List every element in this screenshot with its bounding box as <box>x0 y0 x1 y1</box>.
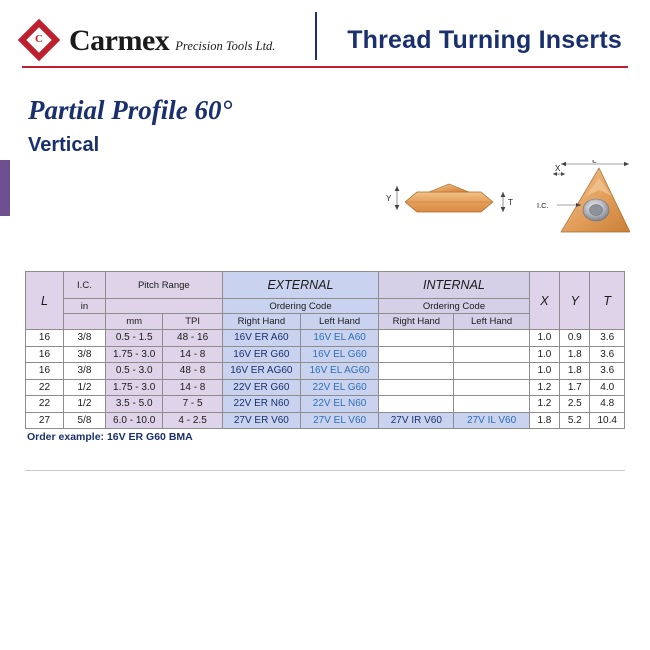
cell-ext-left: 16V EL G60 <box>300 346 378 363</box>
section-subtitle: Vertical <box>28 134 99 157</box>
cell-int-left <box>454 363 529 380</box>
diagram-label-x: X <box>555 164 561 173</box>
cell-y: 1.8 <box>560 363 590 380</box>
page-title: Thread Turning Inserts <box>347 26 622 55</box>
cell-y: 1.8 <box>560 346 590 363</box>
cell-mm: 1.75 - 3.0 <box>105 379 163 396</box>
order-example: Order example: 16V ER G60 BMA <box>27 431 193 443</box>
cell-x: 1.0 <box>529 363 559 380</box>
cell-int-right <box>379 379 454 396</box>
cell-tpi: 4 - 2.5 <box>163 412 222 429</box>
cell-mm: 3.5 - 5.0 <box>105 396 163 413</box>
cell-int-right <box>379 396 454 413</box>
cell-t: 3.6 <box>590 363 625 380</box>
cell-tpi: 48 - 16 <box>163 330 222 347</box>
table-row: 22 1/2 1.75 - 3.0 14 - 8 22V ER G60 22V … <box>26 379 625 396</box>
diagram-label-y: Y <box>386 194 392 203</box>
cell-l: 16 <box>26 346 64 363</box>
side-view: Y T <box>386 184 513 212</box>
table-row: 27 5/8 6.0 - 10.0 4 - 2.5 27V ER V60 27V… <box>26 412 625 429</box>
cell-int-left <box>454 330 529 347</box>
cell-mm: 6.0 - 10.0 <box>105 412 163 429</box>
cell-y: 2.5 <box>560 396 590 413</box>
page-root: C Carmex Precision Tools Ltd. Thread Tur… <box>0 0 650 650</box>
cell-ic: 5/8 <box>63 412 105 429</box>
col-header-y: Y <box>560 272 590 330</box>
table-row: 16 3/8 0.5 - 1.5 48 - 16 16V ER A60 16V … <box>26 330 625 347</box>
cell-ext-left: 16V EL AG60 <box>300 363 378 380</box>
cell-int-right <box>379 363 454 380</box>
page-header: C Carmex Precision Tools Ltd. Thread Tur… <box>0 0 650 70</box>
col-header-int-left-hand: Left Hand <box>454 314 529 330</box>
diagram-label-t: T <box>508 198 513 207</box>
cell-int-left <box>454 379 529 396</box>
pitch-spacer <box>105 299 222 314</box>
cell-int-left <box>454 346 529 363</box>
cell-x: 1.8 <box>529 412 559 429</box>
bottom-rule <box>25 470 625 471</box>
cell-tpi: 7 - 5 <box>163 396 222 413</box>
cell-t: 4.0 <box>590 379 625 396</box>
col-header-mm: mm <box>105 314 163 330</box>
cell-l: 16 <box>26 363 64 380</box>
cell-tpi: 48 - 8 <box>163 363 222 380</box>
cell-t: 3.6 <box>590 330 625 347</box>
col-header-int-right-hand: Right Hand <box>379 314 454 330</box>
cell-l: 22 <box>26 396 64 413</box>
logo-letter: C <box>32 33 46 45</box>
cell-ext-left: 22V EL N60 <box>300 396 378 413</box>
section-title: Partial Profile 60° <box>28 95 232 126</box>
logo-tagline: Precision Tools Ltd. <box>175 39 275 56</box>
cell-t: 4.8 <box>590 396 625 413</box>
ic-spacer <box>63 314 105 330</box>
cell-mm: 1.75 - 3.0 <box>105 346 163 363</box>
cell-ext-left: 22V EL G60 <box>300 379 378 396</box>
cell-ext-left: 16V EL A60 <box>300 330 378 347</box>
cell-ext-right: 22V ER G60 <box>222 379 300 396</box>
cell-l: 27 <box>26 412 64 429</box>
table-header-row-1: L I.C. Pitch Range EXTERNAL INTERNAL X Y… <box>26 272 625 299</box>
side-color-tab <box>0 160 10 216</box>
table-row: 16 3/8 1.75 - 3.0 14 - 8 16V ER G60 16V … <box>26 346 625 363</box>
col-header-ic: I.C. <box>63 272 105 299</box>
cell-tpi: 14 - 8 <box>163 379 222 396</box>
cell-ext-right: 22V ER N60 <box>222 396 300 413</box>
col-header-int-ordering-code: Ordering Code <box>379 299 530 314</box>
cell-y: 0.9 <box>560 330 590 347</box>
cell-ext-right: 16V ER G60 <box>222 346 300 363</box>
cell-tpi: 14 - 8 <box>163 346 222 363</box>
carmex-logo-icon: C <box>22 22 62 56</box>
company-logo: C Carmex Precision Tools Ltd. <box>22 22 275 56</box>
spec-table: L I.C. Pitch Range EXTERNAL INTERNAL X Y… <box>25 271 625 429</box>
header-red-rule <box>22 66 628 68</box>
cell-mm: 0.5 - 3.0 <box>105 363 163 380</box>
cell-int-right: 27V IR V60 <box>379 412 454 429</box>
cell-x: 1.0 <box>529 346 559 363</box>
header-divider <box>315 12 317 60</box>
col-header-l: L <box>26 272 64 330</box>
cell-ic: 3/8 <box>63 346 105 363</box>
cell-x: 1.2 <box>529 396 559 413</box>
cell-y: 5.2 <box>560 412 590 429</box>
cell-y: 1.7 <box>560 379 590 396</box>
front-view: L X I.C. <box>537 160 630 232</box>
cell-ext-right: 16V ER A60 <box>222 330 300 347</box>
col-header-pitch-range: Pitch Range <box>105 272 222 299</box>
logo-wordmark: Carmex <box>69 26 169 56</box>
col-header-ic-unit: in <box>63 299 105 314</box>
cell-ic: 3/8 <box>63 363 105 380</box>
cell-l: 22 <box>26 379 64 396</box>
col-header-ext-right-hand: Right Hand <box>222 314 300 330</box>
cell-int-right <box>379 346 454 363</box>
col-header-t: T <box>590 272 625 330</box>
col-header-external: EXTERNAL <box>222 272 378 299</box>
cell-l: 16 <box>26 330 64 347</box>
cell-x: 1.0 <box>529 330 559 347</box>
cell-ext-left: 27V EL V60 <box>300 412 378 429</box>
table-row: 22 1/2 3.5 - 5.0 7 - 5 22V ER N60 22V EL… <box>26 396 625 413</box>
cell-ext-right: 27V ER V60 <box>222 412 300 429</box>
cell-t: 3.6 <box>590 346 625 363</box>
cell-int-left <box>454 396 529 413</box>
cell-t: 10.4 <box>590 412 625 429</box>
col-header-x: X <box>529 272 559 330</box>
cell-ext-right: 16V ER AG60 <box>222 363 300 380</box>
cell-x: 1.2 <box>529 379 559 396</box>
cell-int-right <box>379 330 454 347</box>
spec-table-wrapper: L I.C. Pitch Range EXTERNAL INTERNAL X Y… <box>25 271 625 429</box>
table-row: 16 3/8 0.5 - 3.0 48 - 8 16V ER AG60 16V … <box>26 363 625 380</box>
cell-ic: 3/8 <box>63 330 105 347</box>
diagram-label-ic: I.C. <box>537 201 549 210</box>
col-header-tpi: TPI <box>163 314 222 330</box>
cell-ic: 1/2 <box>63 396 105 413</box>
cell-ic: 1/2 <box>63 379 105 396</box>
col-header-ext-left-hand: Left Hand <box>300 314 378 330</box>
col-header-internal: INTERNAL <box>379 272 530 299</box>
diagram-label-l: L <box>592 160 597 165</box>
cell-int-left: 27V IL V60 <box>454 412 529 429</box>
cell-mm: 0.5 - 1.5 <box>105 330 163 347</box>
col-header-ext-ordering-code: Ordering Code <box>222 299 378 314</box>
insert-diagram: Y T L X <box>385 160 630 260</box>
